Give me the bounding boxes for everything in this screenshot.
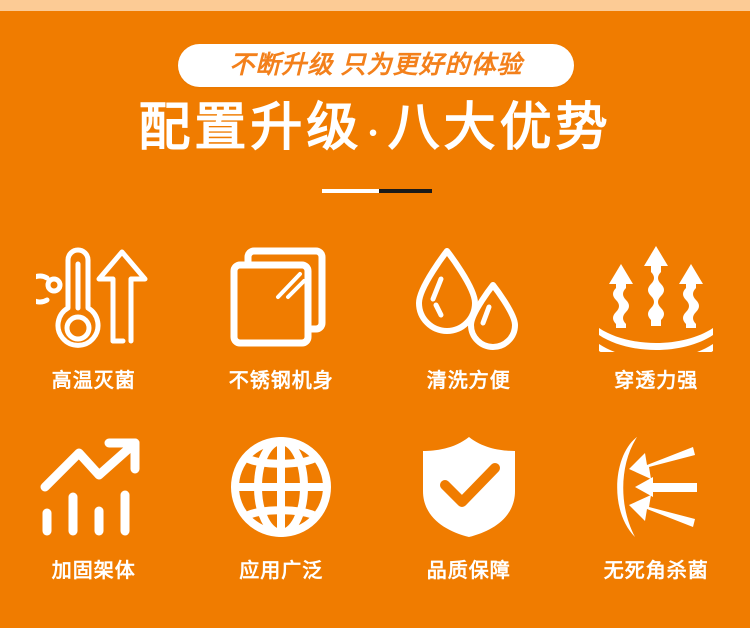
feature-item: 清洗方便 <box>375 232 563 422</box>
feature-label: 不锈钢机身 <box>229 364 334 393</box>
divider-light-segment <box>322 189 379 193</box>
crescent-arrows-icon <box>603 422 709 552</box>
thermometer-arrow-icon <box>36 232 151 362</box>
growth-chart-bars-icon <box>39 422 149 552</box>
page-title: 配置升级·八大优势 <box>0 100 750 158</box>
feature-item: 高温灭菌 <box>0 232 188 422</box>
page-title-left: 配置升级 <box>138 100 362 157</box>
feature-grid: 高温灭菌 不锈钢机身 <box>0 232 750 612</box>
page-title-right: 八大优势 <box>388 100 612 157</box>
feature-item: 应用广泛 <box>188 422 376 612</box>
subtitle-text: 不断升级 只为更好的体验 <box>229 53 522 78</box>
feature-label: 无死角杀菌 <box>604 554 709 583</box>
subtitle-pill: 不断升级 只为更好的体验 <box>178 44 574 87</box>
title-divider <box>322 189 432 193</box>
feature-item: 不锈钢机身 <box>188 232 376 422</box>
shield-check-icon <box>419 422 519 552</box>
feature-label: 应用广泛 <box>239 554 323 583</box>
top-accent-strip <box>0 0 750 11</box>
feature-label: 品质保障 <box>427 554 511 583</box>
water-drops-icon <box>413 232 525 362</box>
feature-item: 无死角杀菌 <box>563 422 750 612</box>
feature-label: 穿透力强 <box>614 364 698 393</box>
heat-waves-arrows-icon <box>593 232 719 362</box>
page-title-separator-dot: · <box>362 110 387 155</box>
feature-label: 加固架体 <box>52 554 136 583</box>
feature-label: 高温灭菌 <box>52 364 136 393</box>
promo-page: 不断升级 只为更好的体验 配置升级·八大优势 高温灭菌 <box>0 0 750 628</box>
feature-item: 加固架体 <box>0 422 188 612</box>
feature-item: 穿透力强 <box>563 232 750 422</box>
stainless-steel-plates-icon <box>226 232 336 362</box>
globe-grid-icon <box>229 422 333 552</box>
feature-item: 品质保障 <box>375 422 563 612</box>
divider-dark-segment <box>379 189 432 193</box>
feature-label: 清洗方便 <box>427 364 511 393</box>
